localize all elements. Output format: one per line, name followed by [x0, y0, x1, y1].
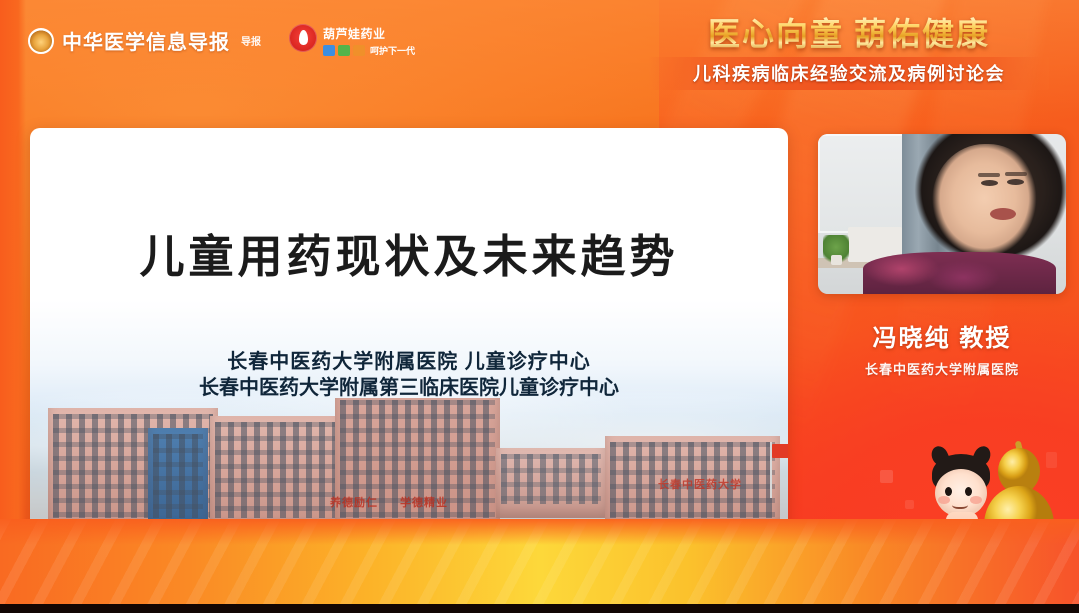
mascot-eye [945, 487, 952, 496]
mascot-cheek [970, 496, 982, 504]
mascot-eye [965, 487, 972, 496]
video-person-mouth [990, 208, 1016, 220]
video-person-eye [981, 180, 998, 186]
logo-sponsor-huluwa: 葫芦娃药业 呵护下一代 [289, 24, 415, 57]
video-person-eyebrow [978, 173, 1000, 177]
presentation-slide[interactable]: 儿童用药现状及未来趋势 长春中医药大学附属医院 儿童诊疗中心 长春中医药大学附属… [30, 128, 788, 558]
video-window [818, 134, 907, 233]
flag-icon [772, 444, 788, 458]
campus-building [335, 398, 500, 532]
mascot-smile [952, 499, 968, 509]
event-title: 医心向童 葫佑健康 [649, 16, 1049, 53]
event-subtitle: 儿科疾病临床经验交流及病例讨论会 [655, 60, 1043, 86]
event-title-block: 医心向童 葫佑健康 儿科疾病临床经验交流及病例讨论会 [649, 16, 1049, 90]
chip-orange-icon [353, 45, 365, 56]
bokeh-square [905, 500, 914, 509]
logo-primary-label: 中华医学信息导报 [62, 26, 230, 55]
header-logo-row: 中华医学信息导报 导报 葫芦娃药业 呵护下一代 [28, 24, 415, 57]
logo-primary-sublabel: 导报 [241, 33, 261, 48]
bottom-gradient-band [0, 519, 1079, 605]
slide-subtitle-line-1: 长春中医药大学附属医院 儿童诊疗中心 [30, 350, 788, 376]
logo-sponsor-label: 葫芦娃药业 [323, 25, 415, 42]
bokeh-square [880, 470, 893, 483]
plant-icon [823, 235, 849, 265]
seal-emblem-icon [28, 28, 54, 54]
chip-green-icon [338, 45, 350, 56]
speaker-caption: 冯晓纯 教授 长春中医药大学附属医院 [818, 318, 1066, 378]
mascot-face [935, 469, 987, 517]
logo-sponsor-text: 葫芦娃药业 呵护下一代 [323, 24, 415, 57]
chip-blue-icon [323, 45, 335, 56]
logo-sponsor-tagline: 呵护下一代 [370, 44, 415, 57]
speaker-video-feed[interactable] [818, 134, 1066, 294]
speaker-organization: 长春中医药大学附属医院 [818, 359, 1066, 378]
mascot-cheek [938, 496, 950, 504]
event-subtitle-band: 儿科疾病临床经验交流及病例讨论会 [649, 57, 1049, 90]
campus-sign-text: 长春中医药大学 [658, 476, 742, 492]
gourd-drop-icon [289, 24, 317, 52]
campus-building [496, 448, 606, 518]
campus-building [210, 416, 340, 532]
campus-plaque: 养德励仁 学德精业 [330, 494, 448, 510]
logo-china-medical-information: 中华医学信息导报 导报 [28, 26, 261, 55]
campus-plaque-left: 养德励仁 [330, 494, 378, 510]
campus-building [148, 428, 208, 532]
speaker-name: 冯晓纯 教授 [818, 318, 1066, 353]
video-person-face [932, 144, 1041, 262]
video-person-eyebrow [1005, 172, 1027, 176]
broadcast-stage: 中华医学信息导报 导报 葫芦娃药业 呵护下一代 医心向童 葫佑健康 儿科疾病临床… [0, 0, 1079, 613]
logo-sponsor-chips: 呵护下一代 [323, 44, 415, 57]
bottom-letterbox [0, 604, 1079, 613]
slide-title: 儿童用药现状及未来趋势 [30, 220, 788, 285]
video-person-shirt [863, 252, 1056, 294]
video-person-eye [1007, 179, 1024, 185]
campus-plaque-right: 学德精业 [400, 494, 448, 510]
